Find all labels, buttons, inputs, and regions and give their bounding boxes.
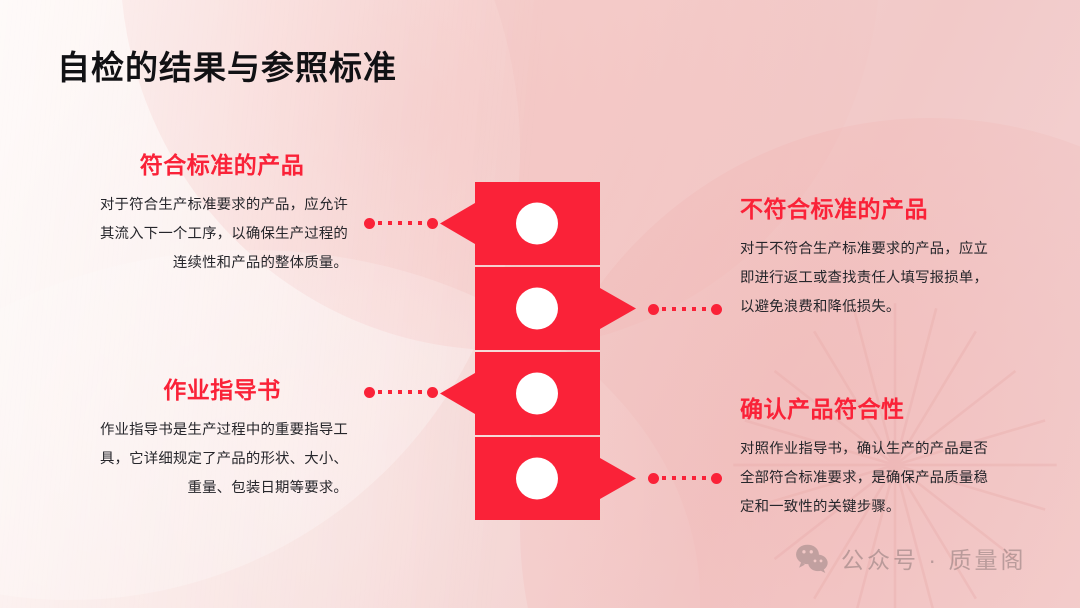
page-title: 自检的结果与参照标准 <box>57 41 397 89</box>
block-heading: 确认产品符合性 <box>740 390 992 424</box>
connector-dot-start <box>364 387 375 398</box>
connector-dot-start <box>648 304 659 315</box>
connector-dot-end <box>711 473 722 484</box>
block-heading: 作业指导书 <box>96 371 348 405</box>
arrow-band-1 <box>440 182 600 265</box>
connector-dotted-line <box>662 307 708 311</box>
connector-dot-end <box>711 304 722 315</box>
wechat-icon <box>795 543 829 573</box>
connector-4 <box>648 471 722 485</box>
watermark: 公众号 · 质量阁 <box>795 541 1026 575</box>
block-heading: 符合标准的产品 <box>96 146 348 180</box>
connector-dotted-line <box>378 390 424 394</box>
arrow-band-3 <box>440 352 600 435</box>
content-block-work-instruction: 作业指导书 作业指导书是生产过程中的重要指导工具，它详细规定了产品的形状、大小、… <box>96 371 348 503</box>
block-body: 对于不符合生产标准要求的产品，应立即进行返工或查找责任人填写报损单，以避免浪费和… <box>740 235 992 322</box>
connector-dot-end <box>427 218 438 229</box>
arrow-band-4 <box>475 437 636 520</box>
connector-2 <box>648 302 722 316</box>
connector-1 <box>364 216 438 230</box>
arrow-stack-diagram <box>440 182 645 521</box>
block-body: 作业指导书是生产过程中的重要指导工具，它详细规定了产品的形状、大小、重量、包装日… <box>96 416 348 503</box>
content-block-confirm-conformity: 确认产品符合性 对照作业指导书，确认生产的产品是否全部符合标准要求，是确保产品质… <box>740 390 992 522</box>
block-body: 对照作业指导书，确认生产的产品是否全部符合标准要求，是确保产品质量稳定和一致性的… <box>740 435 992 522</box>
block-heading: 不符合标准的产品 <box>740 190 992 224</box>
content-block-conforming-products: 符合标准的产品 对于符合生产标准要求的产品，应允许其流入下一个工序，以确保生产过… <box>96 146 348 278</box>
connector-3 <box>364 385 438 399</box>
connector-dot-start <box>648 473 659 484</box>
connector-dotted-line <box>662 476 708 480</box>
watermark-text: 公众号 · 质量阁 <box>841 541 1026 575</box>
slide-canvas: 自检的结果与参照标准 符合标准的产品 对于符合生产标准要求的产品，应允许其流入下… <box>0 0 1080 608</box>
connector-dot-start <box>364 218 375 229</box>
connector-dot-end <box>427 387 438 398</box>
block-body: 对于符合生产标准要求的产品，应允许其流入下一个工序，以确保生产过程的连续性和产品… <box>96 191 348 278</box>
content-block-nonconforming-products: 不符合标准的产品 对于不符合生产标准要求的产品，应立即进行返工或查找责任人填写报… <box>740 190 992 322</box>
connector-dotted-line <box>378 221 424 225</box>
arrow-band-2 <box>475 267 636 350</box>
